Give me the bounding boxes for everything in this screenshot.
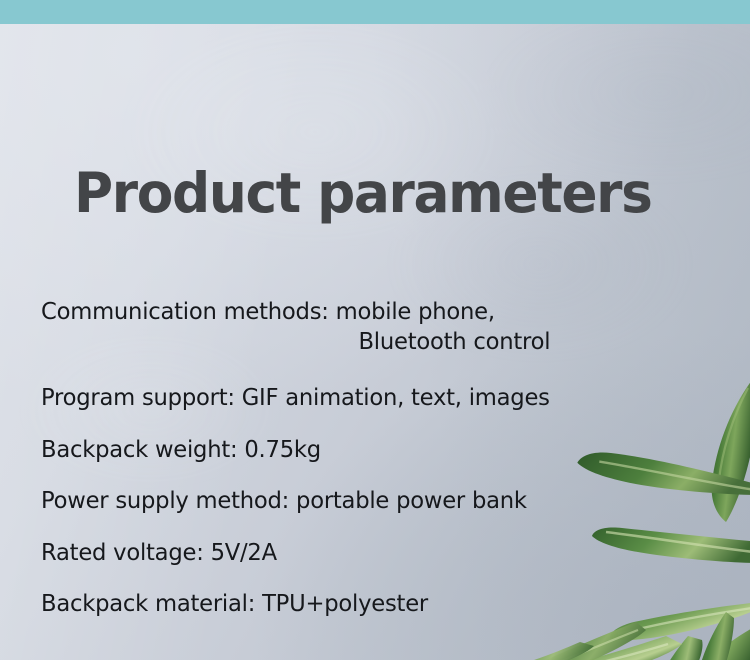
- spec-item-rated-voltage: Rated voltage: 5V/2A: [41, 537, 620, 567]
- page-title: Product parameters: [74, 166, 652, 221]
- page-content: Product parameters Communication methods…: [0, 0, 750, 660]
- specifications-list: Communication methods: mobile phone, Blu…: [41, 296, 641, 619]
- spec-item-backpack-material: Backpack material: TPU+polyester: [41, 588, 620, 618]
- spec-item-backpack-weight: Backpack weight: 0.75kg: [41, 434, 620, 464]
- spec-item-communication-methods: Communication methods: mobile phone,: [41, 296, 620, 326]
- product-parameters-page: Product parameters Communication methods…: [0, 0, 750, 660]
- spec-item-program-support: Program support: GIF animation, text, im…: [41, 382, 620, 412]
- spec-item-power-supply-method: Power supply method: portable power bank: [41, 485, 620, 515]
- spec-item-communication-methods-continuation: Bluetooth control: [41, 326, 620, 356]
